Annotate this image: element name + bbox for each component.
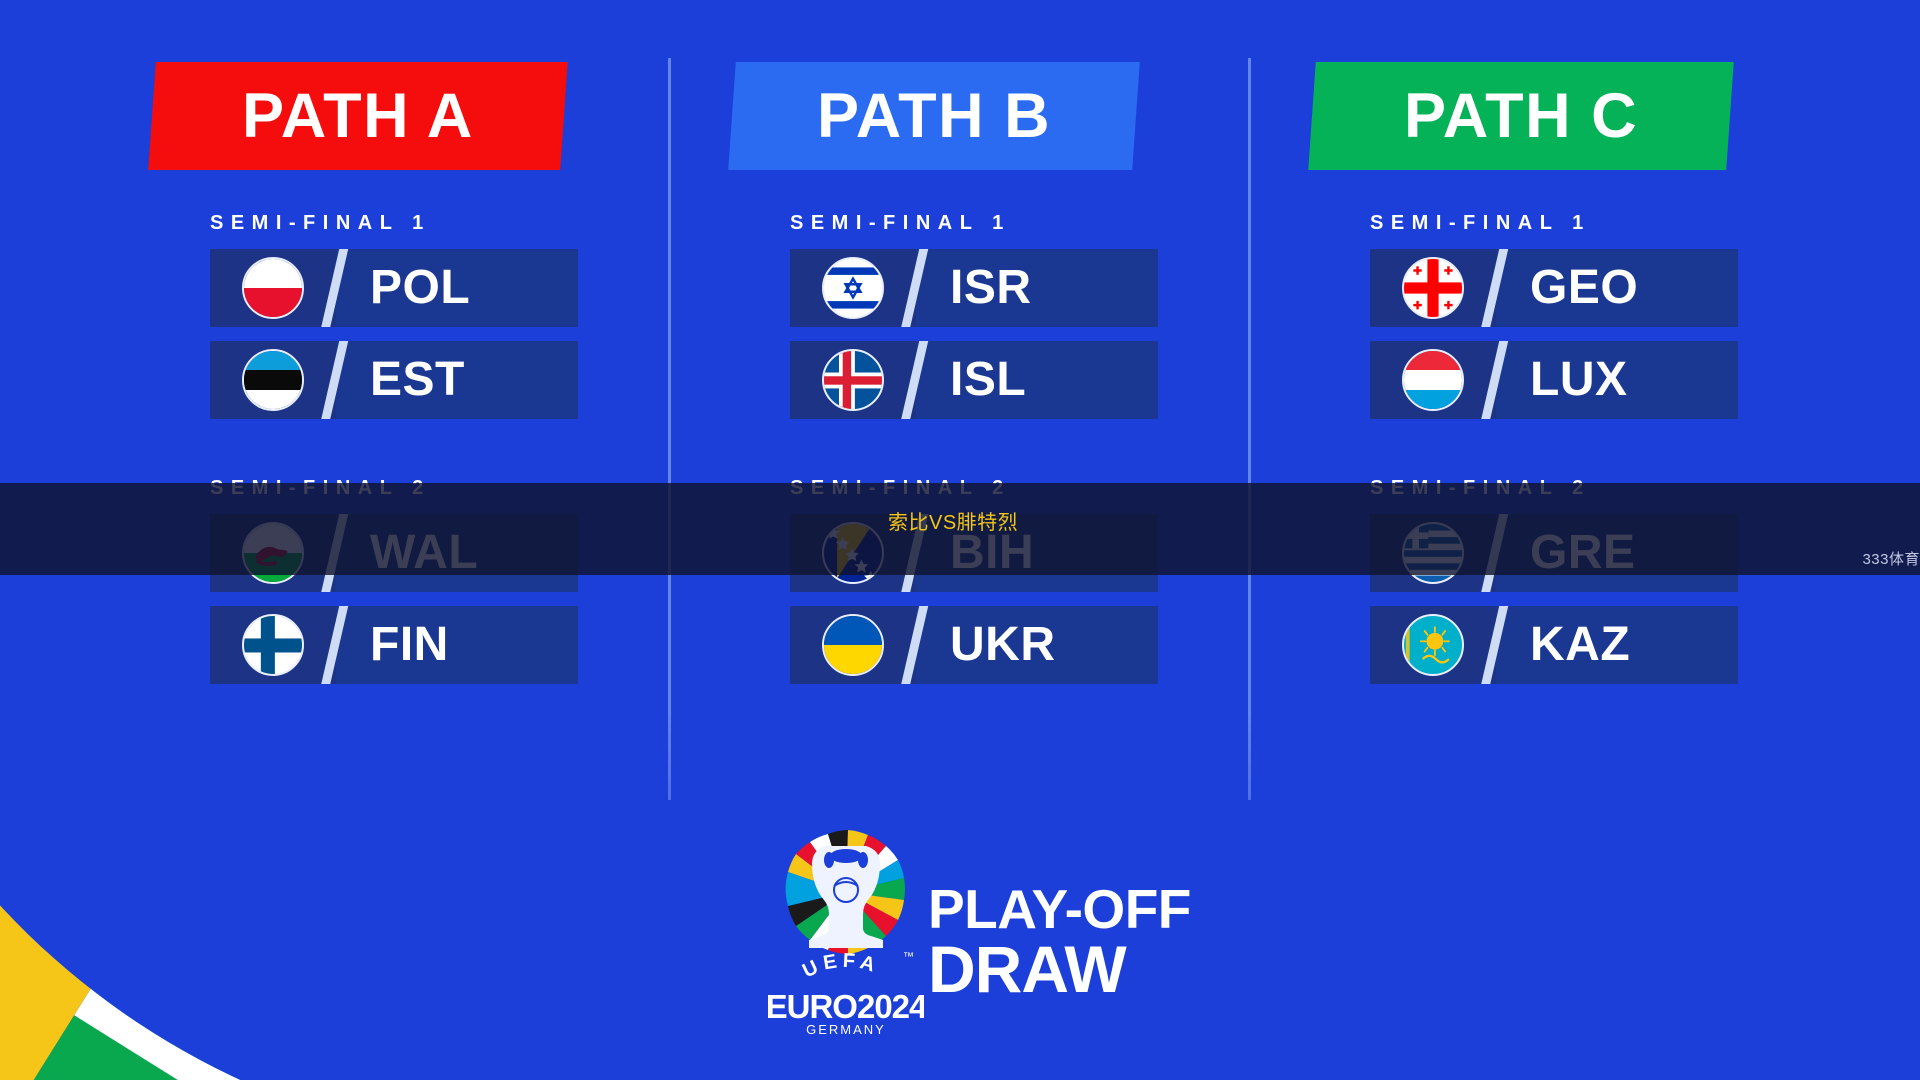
path-b-column: PATH B SEMI-FINAL 1 ISR: [732, 0, 1252, 684]
path-a-semifinal-1-label: SEMI-FINAL 1: [210, 212, 672, 235]
poland-flag-icon: [242, 257, 304, 319]
svg-text:UEFA: UEFA: [799, 950, 882, 983]
team-card-lux[interactable]: LUX: [1370, 341, 1738, 419]
estonia-flag-icon: [242, 349, 304, 411]
path-c-column: PATH C SEMI-FINAL 1: [1312, 0, 1832, 684]
footer-title: PLAY-OFF DRAW: [928, 883, 1191, 1002]
kazakhstan-flag-icon: [1402, 614, 1464, 676]
team-abbr-est: EST: [370, 356, 465, 404]
path-b-banner: PATH B: [728, 62, 1140, 170]
team-abbr-geo: GEO: [1530, 264, 1638, 312]
luxembourg-flag-icon: [1402, 349, 1464, 411]
path-b-banner-label: PATH B: [817, 85, 1051, 148]
finland-flag-icon: [242, 614, 304, 676]
overlay-watermark: 333体育: [1862, 548, 1920, 569]
team-card-ukr[interactable]: UKR: [790, 606, 1158, 684]
playoff-draw-graphic: PATH A SEMI-FINAL 1 POL: [0, 0, 1920, 1080]
path-a-banner-label: PATH A: [242, 85, 474, 148]
path-b-semifinal-1-label: SEMI-FINAL 1: [790, 212, 1252, 235]
overlay-chinese-caption: 索比VS腓特烈: [888, 506, 1018, 535]
team-card-isl[interactable]: ISL: [790, 341, 1158, 419]
footer-title-line1: PLAY-OFF: [928, 878, 1191, 940]
team-card-est[interactable]: EST: [210, 341, 578, 419]
team-abbr-fin: FIN: [370, 621, 449, 669]
team-card-pol[interactable]: POL: [210, 249, 578, 327]
path-c-semifinal-1-label: SEMI-FINAL 1: [1370, 212, 1832, 235]
team-card-isr[interactable]: ISR: [790, 249, 1158, 327]
team-abbr-isl: ISL: [950, 356, 1026, 404]
logo-uefa-text: UEFA: [798, 950, 894, 988]
logo-tm: ™: [903, 951, 914, 963]
team-card-kaz[interactable]: KAZ: [1370, 606, 1738, 684]
team-abbr-pol: POL: [370, 264, 470, 312]
logo-euro2024-text: EURO2024: [768, 988, 924, 1025]
team-abbr-ukr: UKR: [950, 621, 1056, 669]
team-abbr-kaz: KAZ: [1530, 621, 1630, 669]
path-a-column: PATH A SEMI-FINAL 1 POL: [152, 0, 672, 684]
team-abbr-lux: LUX: [1530, 356, 1628, 404]
israel-flag-icon: [822, 257, 884, 319]
team-abbr-isr: ISR: [950, 264, 1032, 312]
team-card-fin[interactable]: FIN: [210, 606, 578, 684]
path-c-banner-label: PATH C: [1404, 85, 1638, 148]
path-c-banner: PATH C: [1308, 62, 1734, 170]
iceland-flag-icon: [822, 349, 884, 411]
uefa-euro-2024-logo-icon: ™ UEFA EURO2024 GERMANY: [768, 830, 924, 1038]
georgia-flag-icon: [1402, 257, 1464, 319]
logo-germany-text: GERMANY: [806, 1022, 886, 1037]
ukraine-flag-icon: [822, 614, 884, 676]
path-a-banner: PATH A: [148, 62, 568, 170]
team-card-geo[interactable]: GEO: [1370, 249, 1738, 327]
footer: ™ UEFA EURO2024 GERMANY PLAY-OFF DRAW: [0, 810, 1920, 1080]
footer-title-line2: DRAW: [928, 937, 1191, 1002]
